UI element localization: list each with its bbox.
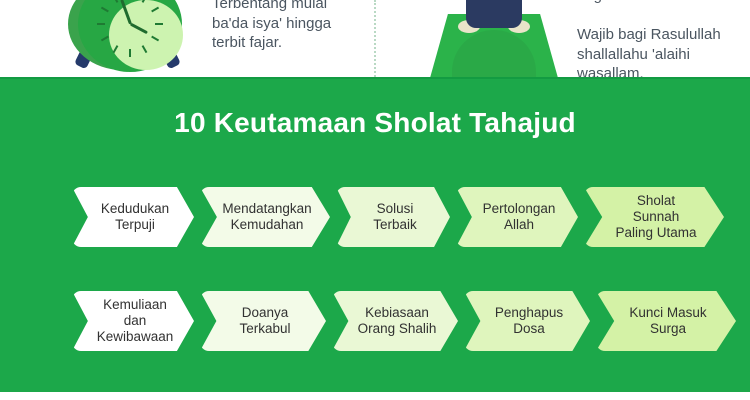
prayer-robe [466,0,522,28]
page-title: 10 Keutamaan Sholat Tahajud [0,107,750,139]
benefit-badge[interactable]: Kedudukan Terpuji [72,187,194,247]
benefit-badge[interactable]: Pertolongan Allah [456,187,578,247]
benefit-badge[interactable]: Mendatangkan Kemudahan [200,187,330,247]
praying-person-icon [424,0,564,77]
top-caption-right: bagi umat Islam. Wajib bagi Rasulullah s… [577,0,745,77]
benefit-badge[interactable]: Kemuliaan dan Kewibawaan [72,291,194,351]
benefits-row-1: Kedudukan TerpujiMendatangkan KemudahanS… [72,187,730,247]
top-illustration-strip: Terbentang mulai ba'da isya' hingga terb… [0,0,750,77]
benefit-badge[interactable]: Kunci Masuk Surga [596,291,736,351]
benefit-badge[interactable]: Kebiasaan Orang Shalih [332,291,458,351]
benefits-row-2: Kemuliaan dan KewibawaanDoanya TerkabulK… [72,291,742,351]
top-caption-left: Terbentang mulai ba'da isya' hingga terb… [212,0,367,53]
alarm-clock-icon [62,0,202,77]
benefit-badge[interactable]: Doanya Terkabul [200,291,326,351]
benefit-badge[interactable]: Sholat Sunnah Paling Utama [584,187,724,247]
dotted-divider-icon [374,0,376,77]
benefit-badge[interactable]: Solusi Terbaik [336,187,450,247]
benefit-badge[interactable]: Penghapus Dosa [464,291,590,351]
benefits-panel: 10 Keutamaan Sholat Tahajud Kedudukan Te… [0,77,750,392]
